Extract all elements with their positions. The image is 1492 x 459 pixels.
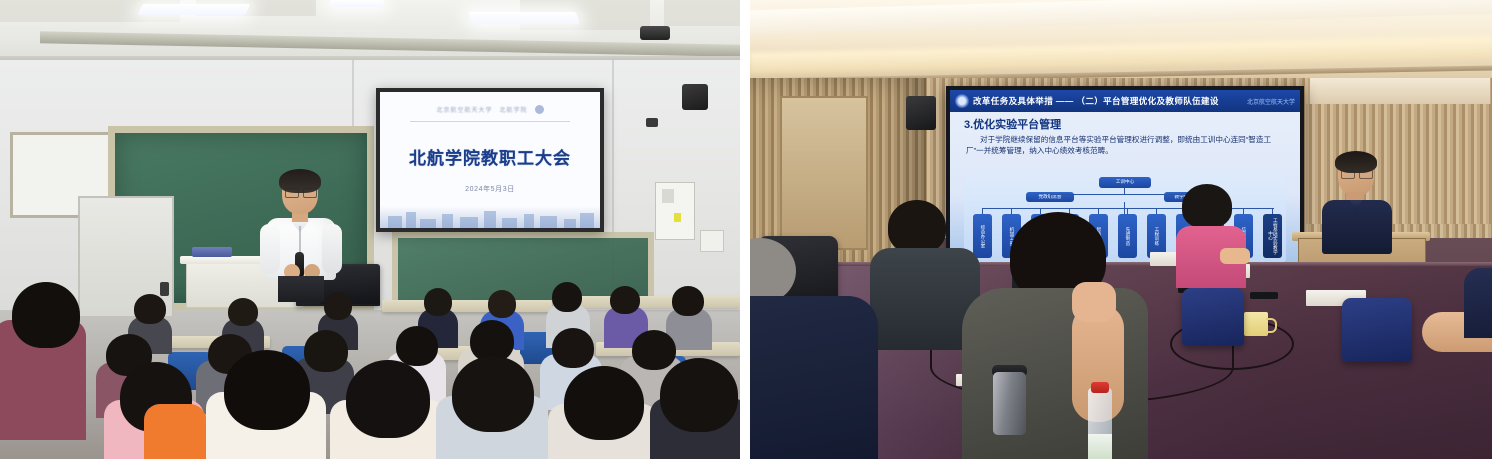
attendee-figure: [1362, 278, 1492, 408]
audience-head: [552, 328, 594, 368]
slide-body-text: 对于学院继续保留的信息平台等实验平台管理权进行调整，即统由工训中心连同“智造工厂…: [966, 134, 1284, 157]
audience-head: [564, 366, 644, 440]
wall-control-panel: [655, 182, 695, 240]
attendee-figure: [1168, 186, 1246, 294]
presenter-figure: [1320, 154, 1396, 250]
wall-switch-plate: [700, 230, 724, 252]
slide-section-title: 3.优化实验平台管理: [964, 116, 1061, 132]
audience-head: [12, 282, 80, 348]
slide-divider: [410, 121, 570, 122]
desk-row: [382, 300, 552, 312]
audience-head: [228, 298, 258, 326]
bottle-cap: [1091, 382, 1109, 393]
projection-screen: 北京航空航天大学 北航学院 北航学院教职工大会 2024年5月3日: [376, 88, 604, 232]
glasses-icon: [285, 188, 315, 196]
audience-person: [144, 404, 206, 459]
speaker-trousers: [278, 276, 324, 302]
audience-head: [224, 350, 310, 430]
bottle-label: [1088, 434, 1112, 459]
mug-handle: [1266, 318, 1277, 333]
ceiling-tile: [664, 0, 740, 26]
ceiling-light: [330, 0, 384, 7]
audience-head: [324, 292, 352, 320]
audience-head: [552, 282, 582, 312]
audience-head: [304, 330, 348, 372]
attendee-arm: [1220, 248, 1250, 264]
audience-head: [346, 360, 430, 438]
right-photo-conference-room: 改革任务及具体举措 —— （二）平台管理优化及教师队伍建设 北京航空航天大学 3…: [750, 0, 1492, 459]
attendee-hand: [1072, 282, 1116, 322]
slide-header-bar: 改革任务及具体举措 —— （二）平台管理优化及教师队伍建设 北京航空航天大学: [950, 90, 1300, 112]
speaker-arm-left: [260, 224, 280, 274]
room-door: [780, 96, 868, 250]
slide-canvas: 北京航空航天大学 北航学院 北航学院教职工大会 2024年5月3日: [380, 92, 600, 228]
attendee-torso: [750, 296, 878, 459]
conference-chair: [1182, 288, 1244, 346]
slide-date: 2024年5月3日: [380, 184, 600, 194]
left-photo-lecture-hall: 北京航空航天大学 北航学院 北航学院教职工大会 2024年5月3日: [0, 0, 740, 459]
attendee-head: [1182, 184, 1232, 228]
composite-image: 北京航空航天大学 北航学院 北航学院教职工大会 2024年5月3日: [0, 0, 1492, 459]
attendee-torso: [1464, 268, 1492, 338]
speaker-arm-right: [322, 224, 342, 274]
audience-head: [424, 288, 452, 316]
conference-room-scene: 改革任务及具体举措 —— （二）平台管理优化及教师队伍建设 北京航空航天大学 3…: [750, 0, 1492, 459]
university-emblem-icon: [955, 94, 969, 108]
audience-head: [632, 330, 676, 370]
coffee-mug: [1244, 312, 1268, 336]
audience-head: [134, 294, 166, 324]
ceiling-projector: [640, 26, 670, 40]
audience-head: [672, 286, 704, 316]
attendee-figure-foreground: [750, 238, 900, 459]
wall-speaker: [682, 84, 708, 110]
lecture-hall-scene: 北京航空航天大学 北航学院 北航学院教职工大会 2024年5月3日: [0, 0, 740, 459]
wall-speaker: [906, 96, 936, 130]
org-connector: [1050, 194, 1051, 198]
slide-header-text: 北京航空航天大学 北航学院: [436, 105, 527, 114]
stacked-books: [192, 247, 232, 257]
attendee-head: [750, 238, 796, 304]
ceiling-light: [468, 12, 580, 24]
audience-head: [396, 326, 438, 366]
speaker-figure: [262, 172, 340, 296]
desk-row: [560, 296, 740, 308]
slide-header: 北京航空航天大学 北航学院: [380, 102, 600, 116]
org-node-leaf: 工程基础实验教学中心: [1263, 214, 1282, 258]
thermos-flask: [993, 372, 1026, 435]
audience-head: [610, 286, 640, 314]
slide-skyline-graphic: [380, 206, 600, 228]
photo-divider: [740, 0, 750, 459]
wall-camera-icon: [646, 118, 658, 127]
ceiling-light: [138, 4, 251, 15]
audience-head: [452, 356, 534, 432]
university-logo-icon: [535, 105, 544, 114]
slide-brand-text: 北京航空航天大学: [1247, 97, 1300, 106]
door-handle-icon: [160, 282, 169, 296]
audience-head: [488, 290, 516, 318]
glasses-icon: [1341, 170, 1371, 177]
org-node-root: 工训中心: [1099, 177, 1151, 188]
slide-title: 北航学院教职工大会: [380, 144, 600, 169]
desk-microphone: [1250, 292, 1278, 299]
audience-head: [660, 358, 738, 432]
ceiling-soffit: [1310, 78, 1490, 104]
slide-header-text: 改革任务及具体举措 —— （二）平台管理优化及教师队伍建设: [969, 95, 1247, 107]
